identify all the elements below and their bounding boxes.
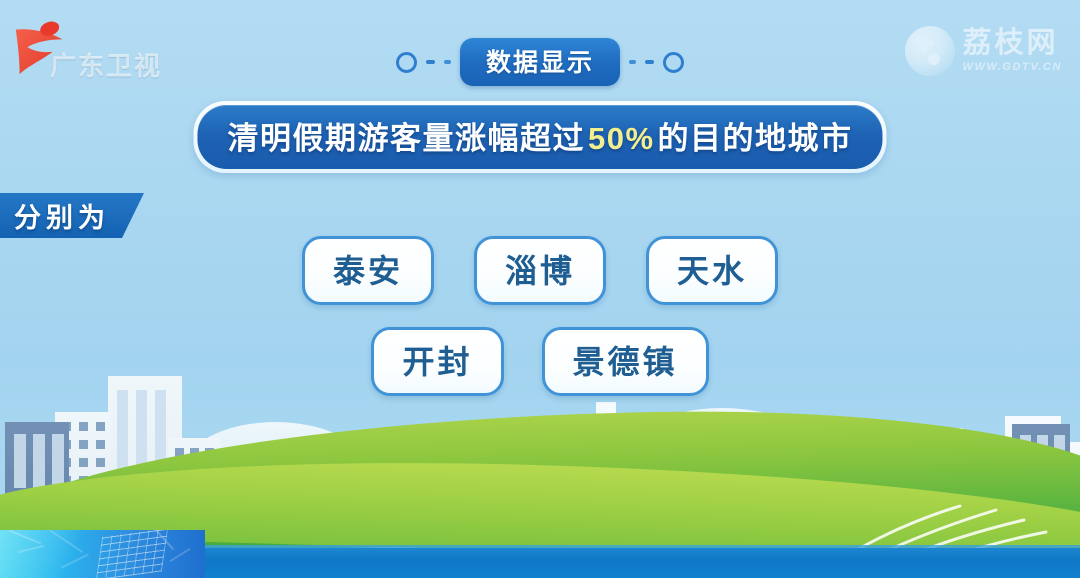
badge-row: 数据显示 <box>0 38 1080 86</box>
headline-suffix: 的目的地城市 <box>658 121 853 156</box>
city-name: 天水 <box>677 253 747 289</box>
city-name: 景德镇 <box>573 344 678 380</box>
city-name: 泰安 <box>333 253 403 289</box>
dash-right-icon <box>629 60 636 64</box>
node-stem-left-icon <box>426 60 435 64</box>
city-name: 淄博 <box>505 253 575 289</box>
city-list: 泰安 淄博 天水 开封 景德镇 <box>0 236 1080 396</box>
headline-prefix: 清明假期游客量涨幅超过 <box>227 121 585 156</box>
node-stem-right-icon <box>645 60 654 64</box>
tech-graphic-band <box>0 530 205 578</box>
city-pill[interactable]: 泰安 <box>302 236 434 305</box>
headline-bar: 清明假期游客量涨幅超过50%的目的地城市 <box>197 105 882 169</box>
city-name: 开封 <box>402 344 472 380</box>
city-row-1: 泰安 淄博 天水 <box>0 236 1080 305</box>
headline-container: 清明假期游客量涨幅超过50%的目的地城市 <box>193 101 886 173</box>
respectively-label: 分别为 <box>14 196 110 235</box>
respectively-banner: 分别为 <box>0 193 144 238</box>
broadcast-graphic-slide: 广东卫视 荔枝网 WWW.GDTV.CN 数据显示 清明假期游客量涨幅超过50%… <box>0 0 1080 578</box>
city-pill[interactable]: 天水 <box>646 236 778 305</box>
badge-label: 数据显示 <box>486 49 594 77</box>
city-pill[interactable]: 景德镇 <box>542 327 709 396</box>
ring-node-right-icon <box>663 52 684 73</box>
data-shows-badge: 数据显示 <box>460 38 620 86</box>
dash-left-icon <box>444 60 451 64</box>
headline-highlight: 50% <box>585 121 658 156</box>
city-row-2: 开封 景德镇 <box>0 327 1080 396</box>
ring-node-left-icon <box>396 52 417 73</box>
city-pill[interactable]: 开封 <box>371 327 503 396</box>
city-pill[interactable]: 淄博 <box>474 236 606 305</box>
